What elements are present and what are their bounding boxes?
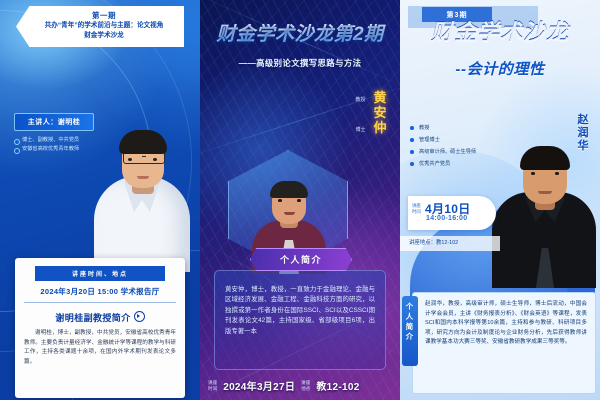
poster-3-bio-card: 赵润华，教授，高级审计师，硕士生导师，博士后流动，中国会计学会会员，主讲《财务报… bbox=[412, 292, 596, 394]
list-item: 管理博士 bbox=[410, 134, 498, 146]
poster-1[interactable]: 第一期 共办“青年”的学术前沿与主题：论文视角 财金学术沙龙 主讲人：谢明桂 博… bbox=[0, 0, 200, 400]
list-item: 教授 bbox=[410, 122, 498, 134]
poster-1-speaker-photo bbox=[88, 76, 196, 272]
poster-2-place-value: 教12-102 bbox=[316, 378, 359, 393]
poster-3-bio-tab: 个人简介 bbox=[402, 296, 418, 366]
poster-1-title-banner: 第一期 共办“青年”的学术前沿与主题：论文视角 财金学术沙龙 bbox=[16, 6, 184, 47]
poster-2-speaker-title-2: 博士 bbox=[355, 126, 366, 135]
poster-1-datetime: 2024年3月20日 15:00 学术报告厅 bbox=[24, 281, 176, 303]
poster-gallery: 第一期 共办“青年”的学术前沿与主题：论文视角 财金学术沙龙 主讲人：谢明桂 博… bbox=[0, 0, 600, 400]
list-item: 高级审计师、硕士生导师 bbox=[410, 146, 498, 158]
poster-1-speaker-name: 主讲人：谢明桂 bbox=[14, 113, 94, 131]
poster-1-bio-heading[interactable]: 谢明桂副教授简介 bbox=[24, 303, 176, 329]
poster-2[interactable]: 财金学术沙龙第2期 ——高级别论文撰写思路与方法 教授 博士 黄安仲 黄安仲，博… bbox=[200, 0, 400, 400]
poster-3-title: 财金学术沙龙 bbox=[400, 18, 600, 46]
poster-2-speaker-title-1: 教授 bbox=[355, 96, 366, 105]
poster-3-time-value: 14:00-16:00 bbox=[426, 215, 467, 222]
poster-1-title-line-1: 共办“青年”的学术前沿与主题：论文视角 bbox=[30, 21, 178, 31]
poster-1-issue: 第一期 bbox=[30, 11, 178, 21]
poster-2-title: 财金学术沙龙第2期 bbox=[200, 24, 400, 46]
poster-3-date-box: 讲座时间 4月10日 14:00-16:00 bbox=[408, 196, 496, 230]
list-item: 博士、副教授、中共党员 bbox=[14, 136, 94, 145]
poster-3[interactable]: 第3期 财金学术沙龙 --会计的理性 教授 管理博士 高级审计师、硕士生导师 优… bbox=[400, 0, 600, 400]
poster-2-bio-tag: 个人简介 bbox=[250, 248, 352, 271]
poster-2-footer: 讲座时间 2024年3月27日 讲座地点 教12-102 bbox=[208, 378, 392, 393]
poster-3-credential-list: 教授 管理博士 高级审计师、硕士生导师 优秀共产党员 bbox=[410, 122, 498, 170]
poster-1-credential-list: 博士、副教授、中共党员 安徽省高校优秀青年教师 bbox=[14, 136, 94, 154]
poster-2-speaker-name: 黄安仲 bbox=[368, 90, 392, 135]
poster-2-bio-card: 黄安仲，博士，教授，一直致力于金融理论、金融与区域经济发展、金融工程、金融科技方… bbox=[214, 270, 386, 370]
poster-1-bio-text: 谢明桂，博士，副教授，中共党员，安徽省高校优秀青年教师。主要负责计量经济学、金融… bbox=[24, 329, 176, 367]
poster-2-subtitle: ——高级别论文撰写思路与方法 bbox=[200, 57, 400, 69]
play-arrow-icon[interactable] bbox=[134, 311, 145, 322]
poster-1-speaker-block: 主讲人：谢明桂 博士、副教授、中共党员 安徽省高校优秀青年教师 bbox=[14, 113, 94, 154]
poster-1-bio-heading-text: 谢明桂副教授简介 bbox=[55, 313, 130, 323]
poster-2-speaker-name-block: 教授 博士 黄安仲 bbox=[368, 90, 392, 135]
poster-1-info-tag: 讲座时间、地点 bbox=[35, 266, 165, 281]
poster-1-info-card: 讲座时间、地点 2024年3月20日 15:00 学术报告厅 谢明桂副教授简介 … bbox=[15, 258, 185, 398]
poster-2-bio-text: 黄安仲，博士，教授，一直致力于金融理论、金融与区域经济发展、金融工程、金融科技方… bbox=[225, 285, 375, 337]
poster-1-title-line-2: 财金学术沙龙 bbox=[30, 31, 178, 41]
poster-2-time-value: 2024年3月27日 bbox=[223, 378, 295, 393]
list-item: 优秀共产党员 bbox=[410, 158, 498, 170]
list-item: 安徽省高校优秀青年教师 bbox=[14, 145, 94, 154]
poster-3-location: 讲座地点：教12-102 bbox=[400, 236, 500, 251]
poster-2-title-block: 财金学术沙龙第2期 ——高级别论文撰写思路与方法 bbox=[200, 24, 400, 69]
poster-3-subtitle: --会计的理性 bbox=[400, 58, 600, 79]
poster-3-bio-text: 赵润华，教授，高级审计师，硕士生导师，博士后流动，中国会计学会会员，主讲《财务报… bbox=[425, 300, 587, 348]
poster-3-date-label: 讲座时间 bbox=[412, 203, 422, 215]
poster-2-time-label: 讲座时间 bbox=[208, 380, 217, 392]
poster-3-speaker-name: 赵润华 bbox=[575, 114, 591, 153]
poster-2-place-label: 讲座地点 bbox=[301, 380, 310, 392]
